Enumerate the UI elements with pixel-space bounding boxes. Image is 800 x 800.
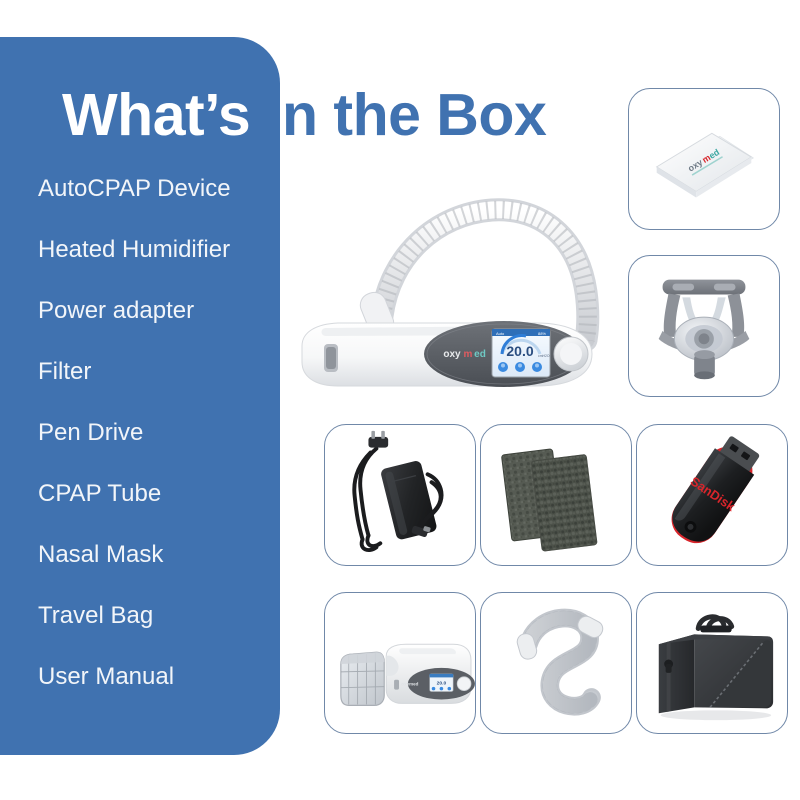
water-chamber <box>341 652 384 705</box>
nasal-mask-icon <box>629 256 779 396</box>
card-power-adapter-image <box>325 425 475 565</box>
box-contents-list: AutoCPAP Device Heated Humidifier Power … <box>38 175 278 724</box>
cpap-tube-hose <box>382 210 588 340</box>
list-item: AutoCPAP Device <box>38 175 278 236</box>
card-filter-image <box>481 425 631 565</box>
title-segment-on-panel: What’s <box>62 82 250 148</box>
list-item: Power adapter <box>38 297 278 358</box>
svg-text:20.0: 20.0 <box>437 681 447 687</box>
plug-prongs <box>368 431 388 448</box>
svg-text:88%: 88% <box>538 331 546 336</box>
card-pen-drive: SanDisk <box>636 424 788 566</box>
user-manual-icon: oxy m ed <box>629 89 779 229</box>
list-item: Filter <box>38 358 278 419</box>
card-cpap-tube <box>480 592 632 734</box>
svg-text:cmH2O: cmH2O <box>538 354 550 358</box>
card-nasal-mask-image <box>629 256 779 396</box>
card-user-manual-image: oxy m ed <box>629 89 779 229</box>
card-heated-humidifier-image: 20.0 oxymed <box>325 593 475 733</box>
list-item: User Manual <box>38 663 278 724</box>
card-nasal-mask <box>628 255 780 397</box>
device-brand-text: oxy <box>443 349 461 360</box>
list-item: Heated Humidifier <box>38 236 278 297</box>
heated-humidifier-icon: 20.0 oxymed <box>325 593 475 733</box>
device-body: oxy m ed Auto 88% 20.0 cmH2O <box>302 321 592 387</box>
svg-text:oxymed: oxymed <box>401 682 418 687</box>
card-user-manual: oxy m ed <box>628 88 780 230</box>
card-filter <box>480 424 632 566</box>
autocpap-device-illustration: oxy m ed Auto 88% 20.0 cmH2O <box>286 196 626 416</box>
device-screen: Auto 88% 20.0 cmH2O <box>492 329 550 377</box>
device-pressure-value: 20.0 <box>506 343 533 359</box>
card-pen-drive-image: SanDisk <box>637 425 787 565</box>
card-travel-bag-image <box>637 593 787 733</box>
infographic-canvas: What’s in the Box AutoCPAP Device Heated… <box>0 0 800 800</box>
card-heated-humidifier: 20.0 oxymed <box>324 592 476 734</box>
power-adapter-icon <box>325 425 475 565</box>
list-item: CPAP Tube <box>38 480 278 541</box>
page-title: What’s in the Box <box>62 86 546 145</box>
filter-pads-icon <box>481 425 631 565</box>
svg-text:ed: ed <box>474 349 486 360</box>
title-segment-on-white: in the Box <box>250 82 546 148</box>
card-cpap-tube-image <box>481 593 631 733</box>
list-item: Pen Drive <box>38 419 278 480</box>
card-travel-bag <box>636 592 788 734</box>
svg-text:Auto: Auto <box>496 331 505 336</box>
travel-bag-icon <box>637 593 787 733</box>
pen-drive-icon: SanDisk <box>637 425 787 565</box>
cpap-tube-icon <box>481 593 631 733</box>
svg-text:m: m <box>464 349 473 360</box>
list-item: Nasal Mask <box>38 541 278 602</box>
card-power-adapter <box>324 424 476 566</box>
list-item: Travel Bag <box>38 602 278 663</box>
